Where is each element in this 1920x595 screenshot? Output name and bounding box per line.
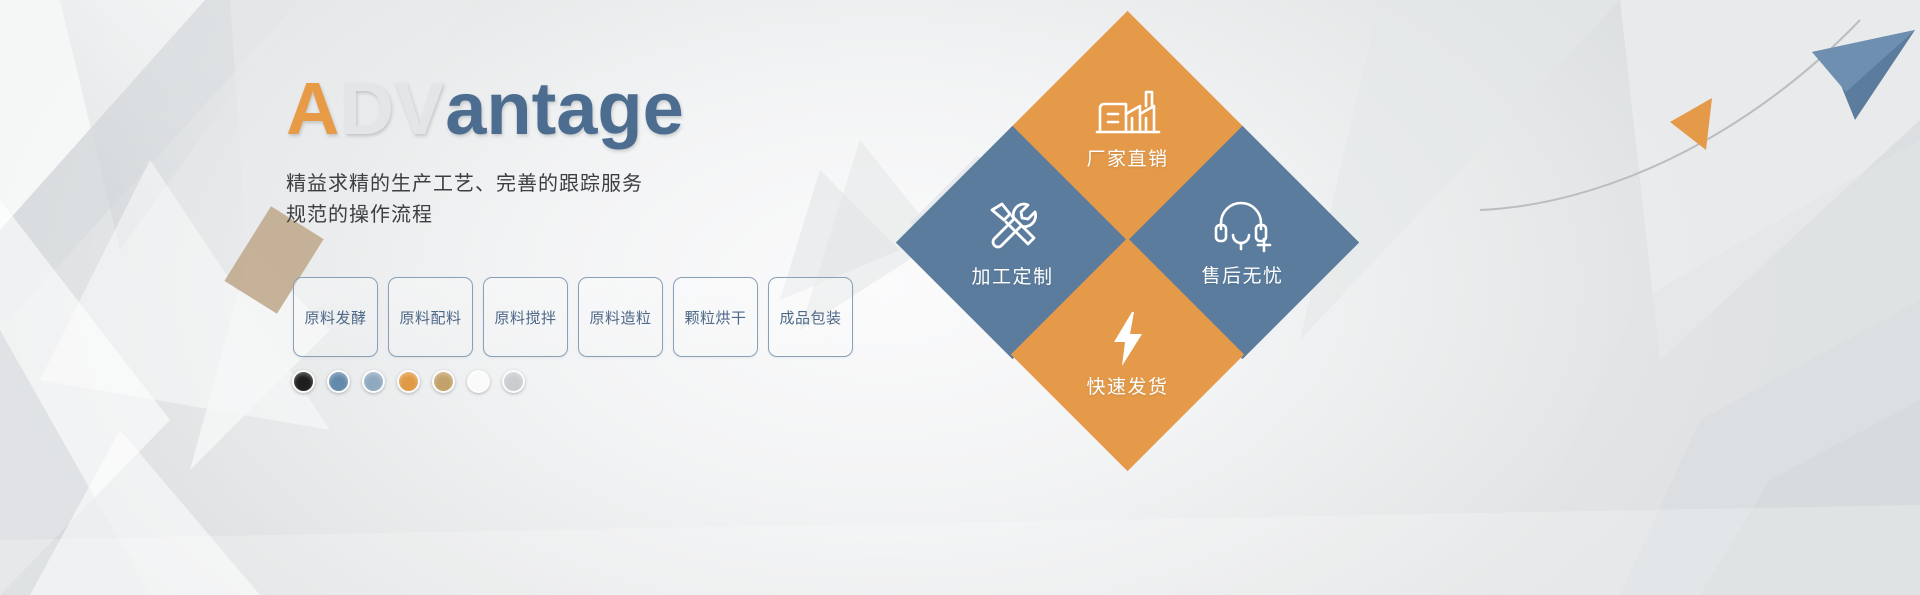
advantage-label: 售后无忧 [1201,261,1283,288]
process-step-list: 原料发酵 原料配料 原料搅拌 原料造粒 颗粒烘干 成品包装 [293,277,853,357]
subtitle-line-1: 精益求精的生产工艺、完善的跟踪服务 [286,168,886,199]
headset-icon [1211,197,1275,257]
factory-icon [1094,84,1162,140]
logo-letter-v: V [395,67,445,150]
process-step-label: 原料造粒 [589,307,651,328]
logo-letter-d: D [340,67,394,150]
subtitle-line-2: 规范的操作流程 [286,199,886,230]
color-swatch-black[interactable] [292,370,315,393]
logo-letter-a: A [286,67,340,150]
process-step-1[interactable]: 原料发酵 [293,277,378,357]
page-title: ADVantage [286,72,886,146]
arrow-swoosh-graphic [1460,0,1920,240]
logo-word-antage: antage [445,67,684,150]
subtitle: 精益求精的生产工艺、完善的跟踪服务 规范的操作流程 [286,168,886,230]
color-swatch-orange[interactable] [397,370,420,393]
headline-block: ADVantage 精益求精的生产工艺、完善的跟踪服务 规范的操作流程 [286,72,886,230]
color-swatch-light-blue[interactable] [362,370,385,393]
advantage-diamond-cluster: 厂家直销 售后无忧 [880,0,1440,595]
color-swatch-list [292,370,525,393]
advantage-item-fast-shipping[interactable]: 快速发货 [1011,238,1244,471]
process-step-label: 颗粒烘干 [684,307,746,328]
banner-stage: ADVantage 精益求精的生产工艺、完善的跟踪服务 规范的操作流程 原料发酵… [0,0,1920,595]
process-step-2[interactable]: 原料配料 [388,277,473,357]
advantage-label: 快速发货 [1086,372,1168,399]
tools-icon [980,196,1046,258]
color-swatch-khaki[interactable] [432,370,455,393]
color-swatch-steel-blue[interactable] [327,370,350,393]
process-step-label: 原料配料 [399,307,461,328]
process-step-6[interactable]: 成品包装 [768,277,853,357]
process-step-label: 原料发酵 [304,307,366,328]
process-step-5[interactable]: 颗粒烘干 [673,277,758,357]
color-swatch-white[interactable] [467,370,490,393]
advantage-label: 厂家直销 [1086,144,1168,171]
lightning-icon [1106,310,1150,368]
advantage-label: 加工定制 [971,262,1053,289]
process-step-4[interactable]: 原料造粒 [578,277,663,357]
process-step-label: 原料搅拌 [494,307,556,328]
process-step-label: 成品包装 [779,307,841,328]
process-step-3[interactable]: 原料搅拌 [483,277,568,357]
color-swatch-light-grey[interactable] [502,370,525,393]
